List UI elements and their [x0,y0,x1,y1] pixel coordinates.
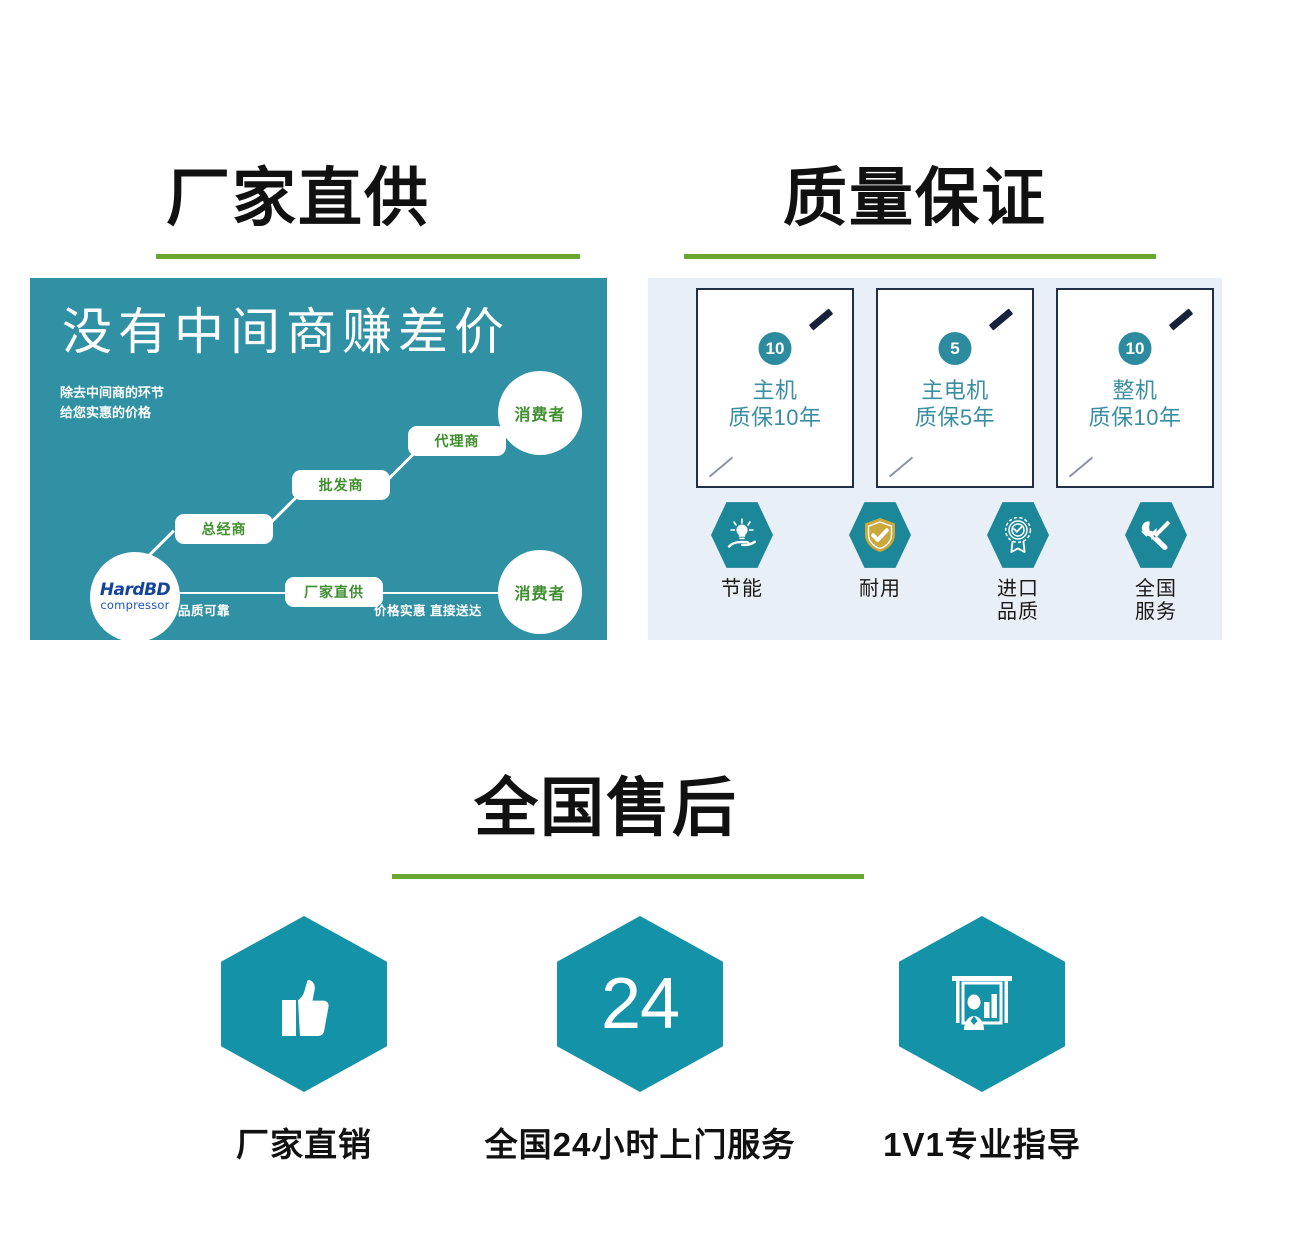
24-hours-icon: 24 [557,916,723,1092]
brand-logo-sub: compressor [100,600,169,612]
durable-shield-icon [849,500,911,570]
feature-label-line2: 服务 [1108,601,1204,624]
panel-subtitle-line1: 除去中间商的环节 [60,383,164,403]
brand-logo-circle: HardBD compressor [90,552,180,640]
chain-node-pifa: 批发商 [292,470,390,500]
corner-mark-light-icon [889,457,913,478]
feature-imported-quality: 进口 品质 [970,500,1066,624]
warranty-card-line1: 主机 [698,378,852,405]
section-title-after-sales: 全国售后 [474,776,738,840]
chain-node-daili: 代理商 [408,426,506,456]
corner-mark-dark-icon [1169,308,1193,330]
feature-label-line1: 进口 [970,578,1066,601]
caption-quality-reliable: 品质可靠 [178,600,230,619]
corner-mark-light-icon [1069,457,1093,478]
panel-subtitle: 除去中间商的环节 给您实惠的价格 [60,383,164,423]
warranty-card-line2: 质保5年 [878,405,1032,432]
warranty-card-line1: 整机 [1058,378,1212,405]
warranty-card-host: 10 主机 质保10年 [696,288,854,488]
feature-label: 节能 [694,578,790,601]
section-title-quality: 质量保证 [783,166,1047,230]
warranty-card-text: 主电机 质保5年 [878,378,1032,432]
warranty-card-text: 整机 质保10年 [1058,378,1212,432]
feature-label-line1: 全国 [1108,578,1204,601]
section-rule-factory-direct [156,254,580,259]
feature-label: 进口 品质 [970,578,1066,624]
section-rule-after-sales [392,874,864,879]
feature-label: 耐用 [832,578,928,601]
feature-nationwide-service: 全国 服务 [1108,500,1204,624]
panel-subtitle-line2: 给您实惠的价格 [60,403,164,423]
feature-label-line2: 品质 [970,601,1066,624]
service-label: 厂家直销 [144,1118,464,1166]
warranty-card-line2: 质保10年 [698,405,852,432]
warranty-card-motor: 5 主电机 质保5年 [876,288,1034,488]
nationwide-service-tools-icon [1125,500,1187,570]
energy-saving-icon [711,500,773,570]
product-detail-page: 厂家直供 质量保证 没有中间商赚差价 除去中间商的环节 给您实惠的价格 总经商 … [0,0,1299,1260]
feature-label-line1: 节能 [694,578,790,601]
corner-mark-light-icon [709,457,733,478]
panel-heading-no-middleman: 没有中间商赚差价 [62,292,510,364]
service-number: 24 [601,963,679,1045]
corner-mark-dark-icon [989,308,1013,330]
consumer-circle-bottom: 消费者 [498,550,582,634]
thumbs-up-icon [221,916,387,1092]
warranty-card-whole-machine: 10 整机 质保10年 [1056,288,1214,488]
warranty-card-line2: 质保10年 [1058,405,1212,432]
section-title-factory-direct: 厂家直供 [166,166,430,230]
service-item-24h-onsite: 24 全国24小时上门服务 [480,916,800,1166]
feature-label-line1: 耐用 [832,578,928,601]
chain-node-zongjing: 总经商 [175,514,273,544]
warranty-years-badge: 10 [759,332,792,365]
service-item-1v1-guidance: 1V1专业指导 [822,916,1142,1166]
imported-quality-badge-icon [987,500,1049,570]
corner-mark-dark-icon [809,308,833,330]
feature-label: 全国 服务 [1108,578,1204,624]
service-item-factory-direct-sales: 厂家直销 [144,916,464,1166]
service-label: 1V1专业指导 [822,1118,1142,1166]
service-label: 全国24小时上门服务 [480,1118,800,1166]
quality-guarantee-panel: 10 主机 质保10年 5 主电机 质保5年 10 整机 质保10年 [648,278,1222,640]
section-rule-quality [684,254,1156,259]
warranty-card-line1: 主电机 [878,378,1032,405]
consumer-circle-top: 消费者 [498,371,582,455]
feature-durable: 耐用 [832,500,928,601]
caption-price-direct: 价格实惠 直接送达 [374,600,482,619]
brand-logo-main: HardBD [100,582,170,599]
warranty-card-text: 主机 质保10年 [698,378,852,432]
chain-node-factory-direct: 厂家直供 [285,577,383,607]
middleman-diagram-panel: 没有中间商赚差价 除去中间商的环节 给您实惠的价格 总经商 批发商 代理商 厂家… [30,278,607,640]
presentation-trainer-icon [899,916,1065,1092]
feature-energy-saving: 节能 [694,500,790,601]
warranty-years-badge: 5 [939,332,972,365]
warranty-years-badge: 10 [1119,332,1152,365]
